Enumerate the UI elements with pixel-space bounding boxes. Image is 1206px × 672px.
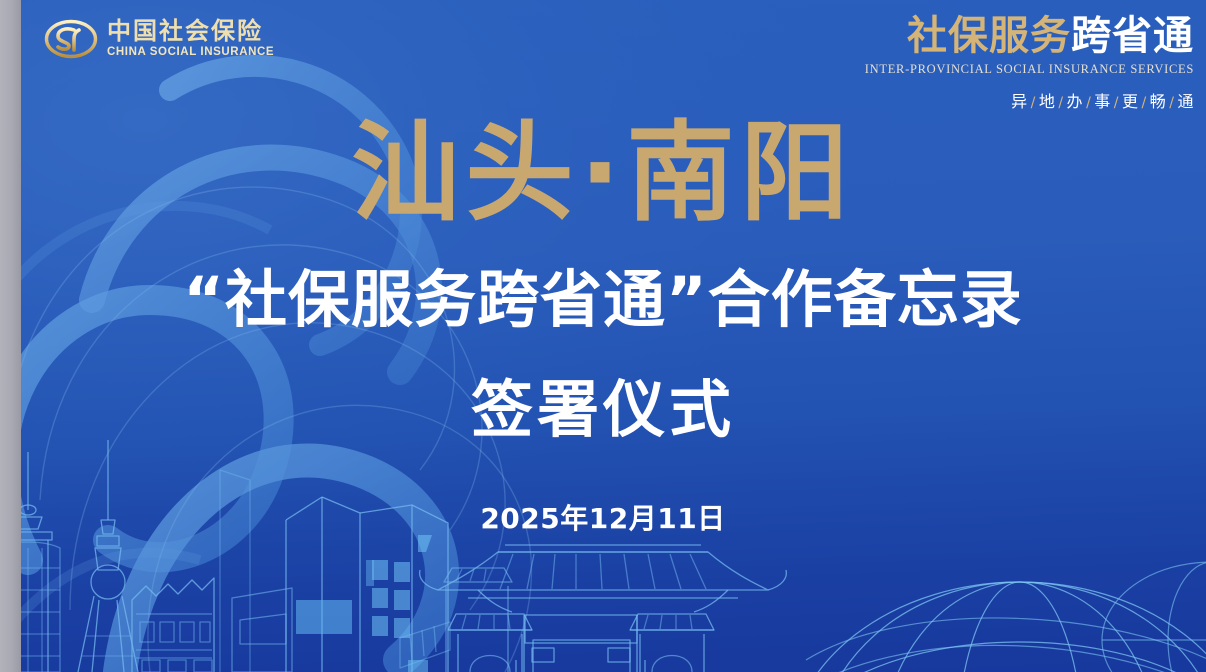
left-edge-strip [0,0,21,672]
cross-province-service-brand: 社保服务跨省通 INTER-PROVINCIAL SOCIAL INSURANC… [865,16,1194,110]
slogan-char-3: 事 [1094,92,1111,111]
paifang-side-post-right [630,614,714,672]
slide-header: 中国社会保险 CHINA SOCIAL INSURANCE 社保服务跨省通 IN… [0,0,1206,120]
globe-main-icon [788,582,1206,672]
globe-secondary-icon [1102,562,1206,672]
slogan-separator-0: / [1031,95,1036,111]
slide-canvas: 中国社会保险 CHINA SOCIAL INSURANCE 社保服务跨省通 IN… [0,0,1206,672]
org-name-english: CHINA SOCIAL INSURANCE [107,47,274,59]
paifang-side-post-left [448,614,532,672]
si-oval-emblem-icon [44,19,98,59]
brand-title-white-part: 跨省通 [1071,13,1194,59]
slogan-char-5: 畅 [1150,92,1167,111]
slogan-char-0: 异 [1011,92,1028,111]
slogan-separator-5: / [1169,95,1174,111]
brand-title: 社保服务跨省通 [865,16,1194,56]
memorandum-title-line2: 签署仪式 [0,376,1206,444]
city-pair-title: 汕头·南阳 [0,112,1206,236]
brand-subtitle-english: INTER-PROVINCIAL SOCIAL INSURANCE SERVIC… [865,63,1194,76]
slogan-separator-3: / [1114,95,1119,111]
slogan-separator-1: / [1058,95,1063,111]
org-name-chinese: 中国社会保险 [107,19,274,43]
slogan-separator-2: / [1086,95,1091,111]
low-rise-shophouses-icon [132,578,214,672]
slogan-char-6: 通 [1177,92,1194,111]
event-date: 2025年12月11日 [0,497,1206,537]
tv-tower-icon [78,440,138,672]
slogan-separator-4: / [1142,95,1147,111]
slogan-char-1: 地 [1039,92,1056,111]
china-social-insurance-logo: 中国社会保险 CHINA SOCIAL INSURANCE [44,19,274,59]
slogan-char-2: 办 [1067,92,1084,111]
traditional-paifang-archway-icon [420,545,787,672]
brand-slogan: 异/地/办/事/更/畅/通 [865,94,1194,110]
slogan-char-4: 更 [1122,92,1139,111]
brand-title-gold-part: 社保服务 [907,13,1071,59]
memorandum-title-line1: “社保服务跨省通”合作备忘录 [0,266,1206,334]
